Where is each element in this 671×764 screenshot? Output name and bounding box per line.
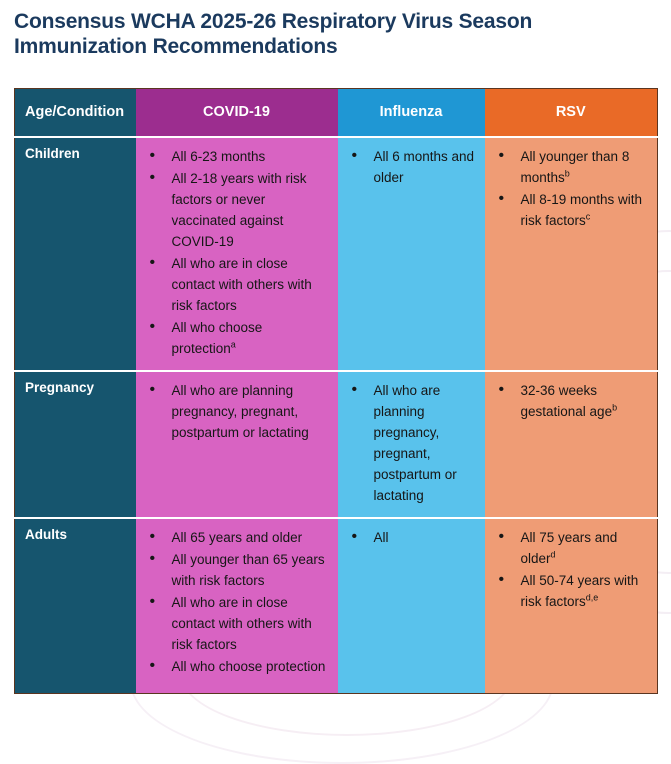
cell-adults-covid: All 65 years and olderAll younger than 6… (136, 518, 338, 694)
table-body: Children All 6-23 monthsAll 2-18 years w… (15, 137, 658, 694)
column-header-covid: COVID-19 (136, 89, 338, 137)
bullet-item: All who are in close contact with others… (146, 253, 330, 316)
bullet-item: All 8-19 months with risk factorsc (495, 189, 650, 231)
footnote-marker: d,e (586, 592, 599, 602)
cell-adults-influenza: All (338, 518, 485, 694)
bullet-item: All 75 years and olderd (495, 527, 650, 569)
cell-children-influenza: All 6 months and older (338, 137, 485, 371)
footnote-marker: c (586, 211, 591, 221)
row-label-pregnancy: Pregnancy (15, 371, 136, 518)
cell-adults-rsv: All 75 years and olderdAll 50-74 years w… (485, 518, 658, 694)
bullet-item: All who choose protectiona (146, 317, 330, 359)
bullet-item: All younger than 65 years with risk fact… (146, 549, 330, 591)
bullet-list: All (338, 519, 485, 559)
bullet-list: All who are planning pregnancy, pregnant… (136, 372, 338, 454)
bullet-item: All (348, 527, 477, 548)
page-container: Consensus WCHA 2025-26 Respiratory Virus… (0, 0, 671, 59)
footnote-marker: a (231, 339, 236, 349)
bullet-item: All 6 months and older (348, 146, 477, 188)
immunization-recommendations-table: Age/Condition COVID-19 Influenza RSV Chi… (14, 88, 658, 694)
bullet-list: All 65 years and olderAll younger than 6… (136, 519, 338, 688)
table-row: Pregnancy All who are planning pregnancy… (15, 371, 658, 518)
footnote-marker: b (612, 402, 617, 412)
row-label-adults: Adults (15, 518, 136, 694)
recommendations-table-wrapper: Age/Condition COVID-19 Influenza RSV Chi… (14, 88, 657, 694)
bullet-list: 32-36 weeks gestational ageb (485, 372, 658, 433)
row-label-children: Children (15, 137, 136, 371)
bullet-item: All who are planning pregnancy, pregnant… (146, 380, 330, 443)
bullet-list: All 75 years and olderdAll 50-74 years w… (485, 519, 658, 623)
bullet-item: All who are planning pregnancy, pregnant… (348, 380, 477, 506)
footnote-marker: d (551, 549, 556, 559)
page-title: Consensus WCHA 2025-26 Respiratory Virus… (0, 0, 668, 59)
table-header: Age/Condition COVID-19 Influenza RSV (15, 89, 658, 137)
bullet-list: All younger than 8 monthsbAll 8-19 month… (485, 138, 658, 242)
bullet-item: All who are in close contact with others… (146, 592, 330, 655)
cell-pregnancy-influenza: All who are planning pregnancy, pregnant… (338, 371, 485, 518)
cell-children-covid: All 6-23 monthsAll 2-18 years with risk … (136, 137, 338, 371)
column-header-rsv: RSV (485, 89, 658, 137)
bullet-item: All 2-18 years with risk factors or neve… (146, 168, 330, 252)
column-header-age-condition: Age/Condition (15, 89, 136, 137)
cell-pregnancy-covid: All who are planning pregnancy, pregnant… (136, 371, 338, 518)
bullet-item: All 50-74 years with risk factorsd,e (495, 570, 650, 612)
bullet-item: All 65 years and older (146, 527, 330, 548)
bullet-item: 32-36 weeks gestational ageb (495, 380, 650, 422)
bullet-item: All younger than 8 monthsb (495, 146, 650, 188)
cell-pregnancy-rsv: 32-36 weeks gestational ageb (485, 371, 658, 518)
bullet-list: All who are planning pregnancy, pregnant… (338, 372, 485, 517)
table-row: Children All 6-23 monthsAll 2-18 years w… (15, 137, 658, 371)
cell-children-rsv: All younger than 8 monthsbAll 8-19 month… (485, 137, 658, 371)
column-header-influenza: Influenza (338, 89, 485, 137)
table-header-row: Age/Condition COVID-19 Influenza RSV (15, 89, 658, 137)
footnote-marker: b (565, 168, 570, 178)
bullet-item: All 6-23 months (146, 146, 330, 167)
bullet-list: All 6 months and older (338, 138, 485, 199)
table-row: Adults All 65 years and olderAll younger… (15, 518, 658, 694)
bullet-list: All 6-23 monthsAll 2-18 years with risk … (136, 138, 338, 370)
